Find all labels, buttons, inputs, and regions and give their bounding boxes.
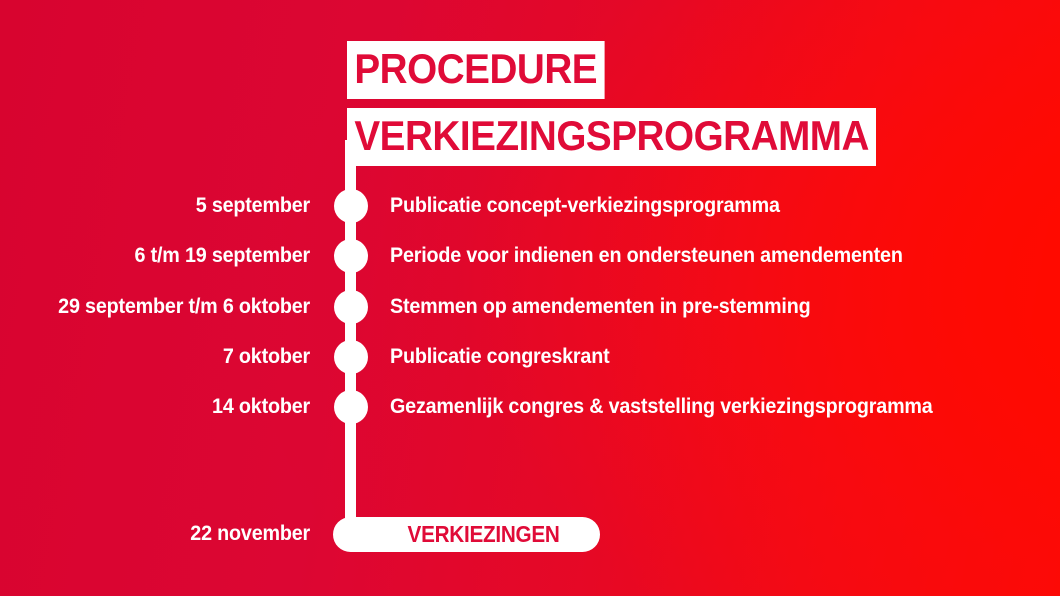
timeline-dot-icon	[334, 239, 368, 273]
timeline-event-label: Stemmen op amendementen in pre-stemming	[390, 287, 1012, 327]
timeline-event-label: Periode voor indienen en ondersteunen am…	[390, 236, 1012, 276]
title-line-verkiezingsprogramma: VERKIEZINGSPROGRAMMA	[347, 108, 876, 166]
timeline-dot-icon	[334, 390, 368, 424]
timeline-event-label: Publicatie congreskrant	[390, 337, 1012, 377]
timeline-event-label: Gezamenlijk congres & vaststelling verki…	[390, 387, 1012, 427]
timeline-event-label: Publicatie concept-verkiezingsprogramma	[390, 186, 1012, 226]
timeline-date-label: 14 oktober	[19, 387, 310, 427]
timeline-date-label: 6 t/m 19 september	[19, 236, 310, 276]
timeline-dot-icon	[334, 189, 368, 223]
timeline-row: 5 septemberPublicatie concept-verkiezing…	[0, 186, 1060, 226]
procedure-timeline-poster: PROCEDURE VERKIEZINGSPROGRAMMA 5 septemb…	[0, 0, 1060, 596]
timeline-row: 29 september t/m 6 oktoberStemmen op ame…	[0, 287, 1060, 327]
timeline-final-row: 22 november VERKIEZINGEN	[0, 514, 1060, 554]
final-date-label: 22 november	[19, 514, 310, 554]
timeline-date-label: 5 september	[19, 186, 310, 226]
timeline-date-label: 7 oktober	[19, 337, 310, 377]
timeline-row: 6 t/m 19 septemberPeriode voor indienen …	[0, 236, 1060, 276]
timeline-dot-icon	[334, 340, 368, 374]
title-line-procedure: PROCEDURE	[347, 41, 604, 99]
election-pill-label: VERKIEZINGEN	[373, 523, 559, 546]
timeline-row: 7 oktoberPublicatie congreskrant	[0, 337, 1060, 377]
election-pill: VERKIEZINGEN	[333, 517, 600, 552]
timeline-dot-icon	[334, 290, 368, 324]
poster-title: PROCEDURE VERKIEZINGSPROGRAMMA	[347, 41, 922, 166]
timeline-row: 14 oktoberGezamenlijk congres & vaststel…	[0, 387, 1060, 427]
timeline-date-label: 29 september t/m 6 oktober	[19, 287, 310, 327]
